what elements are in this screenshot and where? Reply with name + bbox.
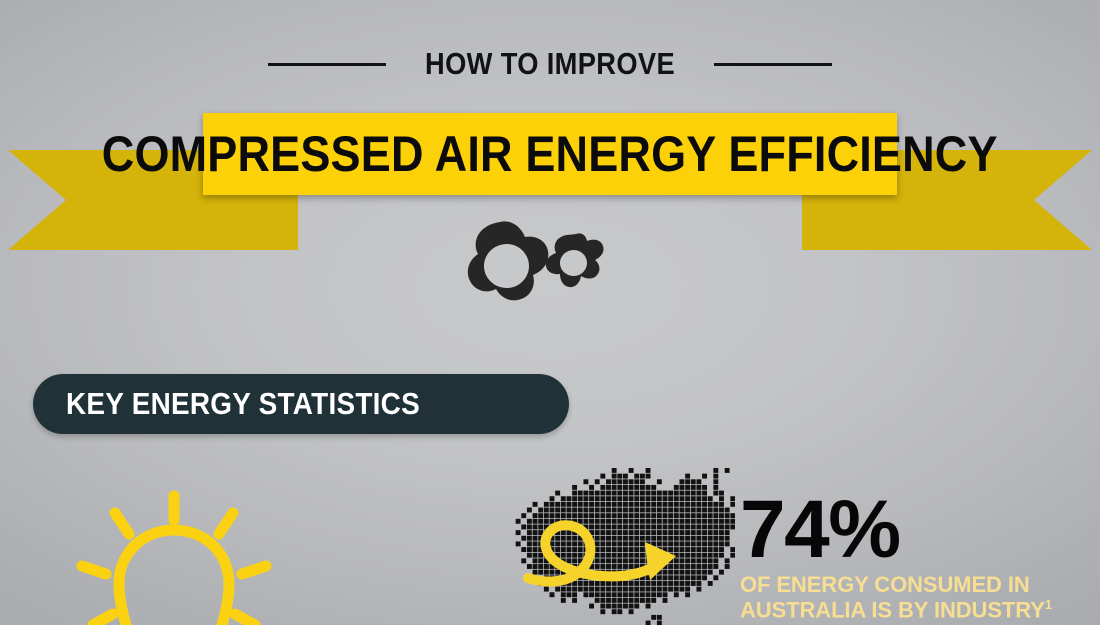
map-pixel: [702, 553, 707, 558]
map-pixel: [589, 508, 594, 513]
map-pixel: [663, 581, 668, 586]
map-pixel: [561, 502, 566, 507]
map-pixel: [680, 485, 685, 490]
map-pixel: [685, 519, 690, 524]
map-pixel: [646, 519, 651, 524]
map-pixel: [578, 541, 583, 546]
map-pixel: [663, 530, 668, 535]
map-pixel: [629, 592, 634, 597]
map-pixel: [702, 513, 707, 518]
map-pixel: [617, 502, 622, 507]
map-pixel: [629, 530, 634, 535]
map-pixel: [725, 468, 730, 473]
map-pixel: [583, 502, 588, 507]
map-pixel: [691, 570, 696, 575]
map-pixel: [606, 530, 611, 535]
map-pixel: [640, 485, 645, 490]
map-pixel: [640, 496, 645, 501]
map-pixel: [663, 536, 668, 541]
map-pixel: [674, 530, 679, 535]
map-pixel: [567, 553, 572, 558]
map-pixel: [555, 541, 560, 546]
map-pixel: [719, 541, 724, 546]
page-title: COMPRESSED AIR ENERGY EFFICIENCY: [102, 125, 998, 183]
map-pixel: [612, 479, 617, 484]
map-pixel: [583, 587, 588, 592]
map-pixel: [685, 587, 690, 592]
map-pixel: [708, 536, 713, 541]
map-pixel: [600, 604, 605, 609]
map-pixel: [583, 581, 588, 586]
map-pixel: [663, 491, 668, 496]
map-pixel: [572, 496, 577, 501]
map-pixel: [713, 553, 718, 558]
map-pixel: [730, 519, 735, 524]
bulb-ray-lower-left: [93, 614, 113, 625]
map-pixel: [634, 530, 639, 535]
map-pixel: [606, 536, 611, 541]
map-pixel: [606, 519, 611, 524]
map-pixel: [527, 525, 532, 530]
map-pixel: [685, 575, 690, 580]
map-pixel: [612, 604, 617, 609]
map-pixel: [634, 536, 639, 541]
map-pixel: [713, 474, 718, 479]
map-pixel: [612, 485, 617, 490]
map-pixel: [623, 491, 628, 496]
map-pixel: [629, 581, 634, 586]
map-pixel: [702, 525, 707, 530]
map-pixel: [595, 553, 600, 558]
map-pixel: [589, 592, 594, 597]
map-pixel: [589, 587, 594, 592]
map-pixel: [674, 587, 679, 592]
map-pixel: [702, 536, 707, 541]
map-pixel: [600, 581, 605, 586]
map-pixel: [572, 491, 577, 496]
map-pixel: [538, 553, 543, 558]
map-pixel: [696, 536, 701, 541]
stat-block-australia-industry: 74% OF ENERGY CONSUMED IN AUSTRALIA IS B…: [740, 492, 1070, 623]
map-pixel: [550, 496, 555, 501]
map-pixel: [657, 491, 662, 496]
map-pixel: [668, 519, 673, 524]
map-pixel: [538, 508, 543, 513]
map-pixel: [634, 541, 639, 546]
gear-icon-large: [468, 221, 549, 300]
map-pixel: [578, 502, 583, 507]
map-pixel: [685, 570, 690, 575]
map-pixel: [696, 570, 701, 575]
map-pixel: [533, 547, 538, 552]
map-pixel: [668, 587, 673, 592]
map-pixel: [696, 541, 701, 546]
map-pixel: [713, 502, 718, 507]
map-pixel: [595, 479, 600, 484]
map-pixel: [567, 547, 572, 552]
map-pixel: [544, 519, 549, 524]
map-pixel: [634, 513, 639, 518]
map-pixel: [663, 496, 668, 501]
map-pixel: [668, 513, 673, 518]
map-pixel: [567, 592, 572, 597]
map-pixel: [550, 508, 555, 513]
map-pixel: [696, 502, 701, 507]
map-pixel: [725, 525, 730, 530]
map-pixel: [685, 502, 690, 507]
map-pixel: [685, 558, 690, 563]
map-pixel: [595, 496, 600, 501]
map-pixel: [612, 502, 617, 507]
map-pixel: [612, 513, 617, 518]
map-pixel: [533, 502, 538, 507]
map-pixel: [691, 558, 696, 563]
map-pixel: [685, 592, 690, 597]
map-pixel: [527, 508, 532, 513]
map-pixel: [527, 530, 532, 535]
map-pixel: [668, 536, 673, 541]
map-pixel: [527, 547, 532, 552]
map-pixel: [600, 519, 605, 524]
map-pixel: [702, 485, 707, 490]
map-pixel: [674, 558, 679, 563]
map-pixel: [663, 525, 668, 530]
map-pixel: [623, 525, 628, 530]
map-pixel: [702, 547, 707, 552]
map-pixel: [623, 541, 628, 546]
map-pixel: [629, 485, 634, 490]
map-pixel: [663, 570, 668, 575]
map-pixel: [561, 598, 566, 603]
map-pixel: [646, 530, 651, 535]
map-pixel: [595, 598, 600, 603]
map-pixel: [567, 536, 572, 541]
map-pixel: [713, 485, 718, 490]
map-pixel: [674, 536, 679, 541]
map-pixel: [623, 479, 628, 484]
map-pixel: [719, 491, 724, 496]
map-pixel: [680, 513, 685, 518]
map-pixel: [578, 508, 583, 513]
map-pixel: [708, 496, 713, 501]
map-pixel: [685, 485, 690, 490]
map-pixel: [623, 502, 628, 507]
map-pixel: [527, 519, 532, 524]
map-pixel: [623, 508, 628, 513]
map-pixel: [533, 558, 538, 563]
map-pixel: [589, 604, 594, 609]
infographic-page: HOW TO IMPROVE COMPRESSED AIR ENERGY EFF…: [0, 0, 1100, 625]
map-pixel: [646, 604, 651, 609]
map-pixel: [646, 491, 651, 496]
map-pixel: [708, 541, 713, 546]
map-pixel: [538, 570, 543, 575]
map-pixel: [629, 525, 634, 530]
map-pixel: [612, 525, 617, 530]
map-pixel: [640, 513, 645, 518]
map-pixel: [612, 609, 617, 614]
map-pixel: [544, 587, 549, 592]
map-pixel: [567, 508, 572, 513]
map-pixel: [713, 558, 718, 563]
map-pixel: [612, 508, 617, 513]
map-pixel: [595, 530, 600, 535]
map-pixel: [634, 496, 639, 501]
map-pixel: [634, 474, 639, 479]
map-pixel: [617, 558, 622, 563]
map-pixel: [691, 519, 696, 524]
map-pixel: [606, 558, 611, 563]
map-pixel: [680, 525, 685, 530]
map-pixel: [680, 479, 685, 484]
map-pixel: [702, 491, 707, 496]
map-pixel: [550, 513, 555, 518]
australia-map-svg: [510, 468, 735, 625]
map-pixel: [567, 530, 572, 535]
map-pixel: [544, 513, 549, 518]
map-pixel: [527, 541, 532, 546]
map-pixel: [702, 575, 707, 580]
map-pixel: [572, 485, 577, 490]
map-pixel: [691, 575, 696, 580]
map-pixel: [555, 508, 560, 513]
map-pixel: [674, 491, 679, 496]
map-pixel: [651, 536, 656, 541]
map-pixel: [555, 547, 560, 552]
map-pixel: [567, 587, 572, 592]
map-pixel: [600, 474, 605, 479]
map-pixel: [623, 474, 628, 479]
map-pixel: [719, 496, 724, 501]
map-pixel: [713, 530, 718, 535]
map-pixel: [538, 564, 543, 569]
map-pixel: [612, 558, 617, 563]
map-pixel: [691, 491, 696, 496]
map-pixel: [612, 598, 617, 603]
map-pixel: [702, 508, 707, 513]
map-pixel: [646, 474, 651, 479]
map-pixel: [640, 491, 645, 496]
map-pixel: [533, 525, 538, 530]
map-pixel: [600, 491, 605, 496]
map-pixel: [668, 491, 673, 496]
map-pixel: [730, 547, 735, 552]
map-pixel: [612, 530, 617, 535]
map-pixel: [685, 525, 690, 530]
map-pixel: [550, 502, 555, 507]
map-pixel: [606, 604, 611, 609]
map-pixel: [600, 547, 605, 552]
map-pixel: [702, 558, 707, 563]
map-pixel: [713, 508, 718, 513]
map-pixel: [680, 530, 685, 535]
map-pixel: [578, 553, 583, 558]
map-pixel: [691, 485, 696, 490]
map-pixel: [623, 581, 628, 586]
map-pixel: [595, 587, 600, 592]
map-pixel: [589, 491, 594, 496]
map-pixel: [634, 519, 639, 524]
map-pixel: [702, 502, 707, 507]
map-pixel: [719, 536, 724, 541]
map-pixel: [555, 502, 560, 507]
map-pixel: [651, 485, 656, 490]
map-pixel: [629, 547, 634, 552]
map-pixel: [629, 479, 634, 484]
map-pixel: [572, 598, 577, 603]
gears-graphic: [455, 218, 615, 318]
map-pixel: [646, 485, 651, 490]
map-pixel: [629, 558, 634, 563]
bulb-ray-upper-right: [219, 513, 233, 534]
rule-left: [268, 63, 386, 66]
light-bulb-icon: [55, 488, 295, 625]
map-pixel: [696, 525, 701, 530]
map-pixel: [646, 592, 651, 597]
map-pixel: [623, 604, 628, 609]
map-pixel: [719, 525, 724, 530]
map-pixel: [538, 558, 543, 563]
map-pixel: [521, 513, 526, 518]
map-pixel: [657, 519, 662, 524]
map-pixel: [516, 519, 521, 524]
map-pixel: [657, 513, 662, 518]
stat-caption-line1: OF ENERGY CONSUMED IN: [740, 572, 1030, 597]
map-pixel: [572, 553, 577, 558]
map-pixel: [629, 587, 634, 592]
section-header-label: KEY ENERGY STATISTICS: [66, 386, 420, 422]
map-pixel: [696, 587, 701, 592]
bulb-glass: [119, 530, 229, 625]
map-pixel: [691, 479, 696, 484]
map-pixel: [657, 587, 662, 592]
map-pixel: [702, 564, 707, 569]
map-pixel: [634, 525, 639, 530]
map-pixel: [629, 536, 634, 541]
map-pixel: [634, 479, 639, 484]
map-pixel: [640, 547, 645, 552]
map-pixel: [617, 508, 622, 513]
map-pixel: [708, 508, 713, 513]
map-pixel: [600, 592, 605, 597]
australia-pixel-map-icon: [510, 468, 735, 625]
map-pixel: [561, 496, 566, 501]
map-pixel: [600, 502, 605, 507]
map-pixel: [634, 491, 639, 496]
map-pixel: [629, 496, 634, 501]
map-pixel: [521, 558, 526, 563]
map-pixel: [663, 513, 668, 518]
map-pixel: [589, 525, 594, 530]
map-pixel: [640, 598, 645, 603]
map-pixel: [713, 575, 718, 580]
map-pixel: [680, 587, 685, 592]
map-pixel: [696, 508, 701, 513]
map-pixel: [595, 508, 600, 513]
map-pixel: [685, 547, 690, 552]
map-pixel: [617, 536, 622, 541]
map-pixel: [589, 581, 594, 586]
map-pixel: [572, 547, 577, 552]
map-pixel: [719, 508, 724, 513]
map-pixel: [600, 564, 605, 569]
map-pixel: [663, 541, 668, 546]
map-pixel: [617, 496, 622, 501]
map-pixel: [589, 513, 594, 518]
map-pixel: [555, 570, 560, 575]
map-pixel: [572, 513, 577, 518]
map-pixel: [623, 530, 628, 535]
map-pixel: [600, 525, 605, 530]
map-pixel: [533, 564, 538, 569]
map-pixel: [702, 570, 707, 575]
map-pixel: [623, 558, 628, 563]
map-pixel: [595, 564, 600, 569]
map-pixel: [646, 536, 651, 541]
map-pixel: [606, 508, 611, 513]
map-pixel: [713, 491, 718, 496]
map-pixel: [668, 564, 673, 569]
map-pixel: [589, 502, 594, 507]
rule-right: [714, 63, 832, 66]
map-pixel: [691, 536, 696, 541]
map-pixel: [646, 587, 651, 592]
map-pixel: [634, 598, 639, 603]
map-pixel: [674, 570, 679, 575]
map-pixel: [646, 496, 651, 501]
map-pixel: [708, 553, 713, 558]
map-pixel: [617, 491, 622, 496]
map-pixel: [651, 587, 656, 592]
map-pixel: [696, 513, 701, 518]
map-pixel: [730, 513, 735, 518]
map-pixel: [680, 553, 685, 558]
map-pixel: [634, 508, 639, 513]
map-pixel: [663, 508, 668, 513]
map-pixel: [612, 541, 617, 546]
map-pixel: [595, 558, 600, 563]
map-pixel: [663, 519, 668, 524]
eyebrow-text: HOW TO IMPROVE: [425, 46, 675, 82]
map-pixel: [708, 558, 713, 563]
map-pixel: [691, 513, 696, 518]
map-pixel: [640, 474, 645, 479]
map-pixel: [674, 496, 679, 501]
map-pixel: [685, 536, 690, 541]
map-pixel: [629, 598, 634, 603]
map-pixel: [572, 502, 577, 507]
map-pixel: [623, 513, 628, 518]
map-pixel: [668, 570, 673, 575]
map-pixel: [708, 502, 713, 507]
map-pixel: [680, 508, 685, 513]
map-pixel: [713, 513, 718, 518]
map-pixel: [713, 479, 718, 484]
map-pixel: [646, 581, 651, 586]
map-pixel: [612, 474, 617, 479]
map-pixel: [583, 513, 588, 518]
map-pixel: [589, 485, 594, 490]
map-pixel: [713, 536, 718, 541]
map-pixel: [612, 468, 617, 473]
map-pixel: [646, 468, 651, 473]
map-pixel: [527, 553, 532, 558]
map-pixel: [674, 575, 679, 580]
map-pixel: [629, 564, 634, 569]
map-pixel: [555, 513, 560, 518]
map-pixel: [691, 564, 696, 569]
map-pixel: [623, 553, 628, 558]
